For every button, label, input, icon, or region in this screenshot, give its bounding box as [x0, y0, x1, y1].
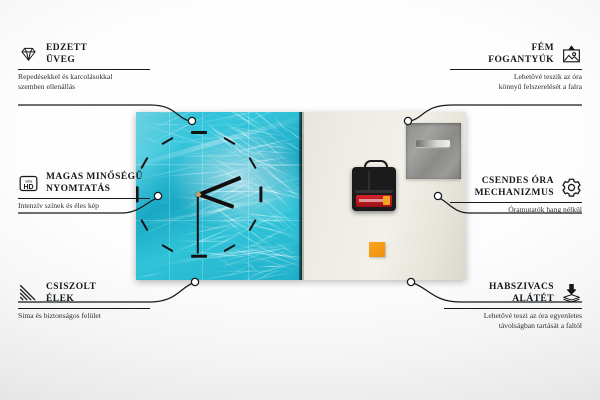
feather-pattern: [136, 112, 302, 280]
callout-rule: [450, 202, 582, 203]
callout-description: Lehetővé teszi az óra egyenletes távolsá…: [444, 311, 582, 330]
callout-title: CSISZOLT ÉLEK: [46, 282, 96, 305]
callout-polished-edges[interactable]: CSISZOLT ÉLEK Sima és biztonságos felüle…: [18, 282, 150, 321]
hatched-triangle-icon: [18, 283, 39, 304]
callout-high-quality-print[interactable]: ultra HD MAGAS MINŐSÉGŰ NYOMTATÁS Intenz…: [18, 172, 150, 211]
hanger-keyhole-slot: [416, 140, 450, 147]
callout-title: FÉM FOGANTYÚK: [488, 43, 554, 66]
callout-rule: [18, 69, 150, 70]
clock-front-view: [136, 112, 302, 280]
callout-description: Lehetővé teszik az óra könnyű felszerelé…: [450, 72, 582, 91]
diamond-icon: [18, 44, 39, 65]
callout-silent-mechanism[interactable]: CSENDES ÓRA MECHANIZMUS Óramutatók hang …: [450, 176, 582, 215]
callout-title: MAGAS MINŐSÉGŰ NYOMTATÁS: [46, 172, 143, 195]
second-hand: [197, 195, 199, 253]
callout-foam-pad[interactable]: HABSZIVACS ALÁTÉT Lehetővé teszi az óra …: [444, 282, 582, 330]
callout-description: Intenzív színek és éles kép: [18, 201, 150, 211]
clock-back-view: [302, 112, 466, 280]
arrow-into-layers-icon: [561, 283, 582, 304]
foam-pad: [369, 242, 385, 257]
svg-text:HD: HD: [23, 184, 33, 191]
callout-title: EDZETT ÜVEG: [46, 43, 87, 66]
ultra-hd-icon: ultra HD: [18, 173, 39, 194]
callout-rule: [444, 308, 582, 309]
metal-hanger-plate: [406, 123, 461, 179]
callout-metal-handles[interactable]: FÉM FOGANTYÚK Lehetővé teszik az óra kön…: [450, 43, 582, 91]
callout-title: HABSZIVACS ALÁTÉT: [489, 282, 554, 305]
callout-description: Repedésekkel és karcolásokkal szemben el…: [18, 72, 150, 91]
infographic-canvas: EDZETT ÜVEG Repedésekkel és karcolásokka…: [0, 0, 600, 400]
callout-rule: [18, 308, 150, 309]
clock-center-pin: [196, 192, 201, 197]
callout-rule: [450, 69, 582, 70]
quartz-clock-mechanism: [352, 167, 396, 211]
callout-rule: [18, 198, 150, 199]
callout-tempered-glass[interactable]: EDZETT ÜVEG Repedésekkel és karcolásokka…: [18, 43, 150, 91]
product-photo: [136, 112, 466, 280]
callout-title: CSENDES ÓRA MECHANIZMUS: [475, 176, 554, 199]
callout-description: Óramutatók hang nélkül: [450, 205, 582, 215]
gear-icon: [561, 177, 582, 198]
framed-picture-hanging-icon: [561, 44, 582, 65]
battery: [356, 195, 392, 207]
callout-description: Sima és biztonságos felület: [18, 311, 150, 321]
